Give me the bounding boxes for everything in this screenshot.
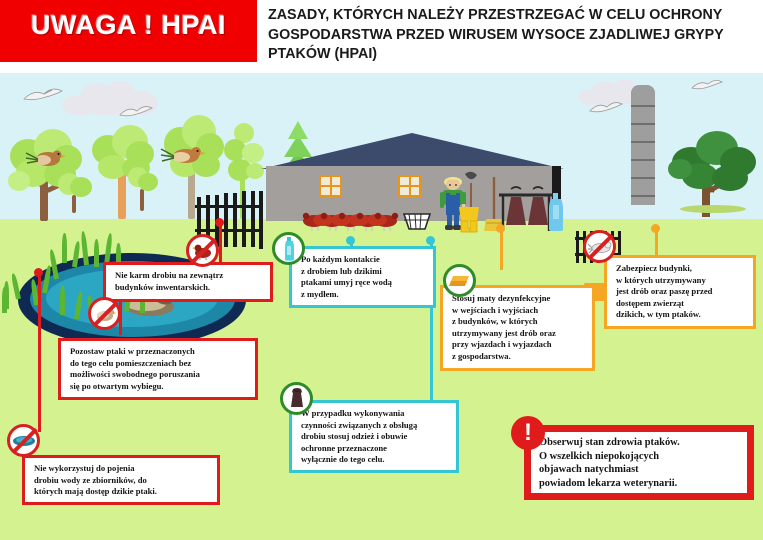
no-free-range-icon bbox=[88, 297, 121, 330]
bush bbox=[128, 167, 158, 211]
tip-line: przy wjazdach i wyjazdach bbox=[452, 339, 585, 351]
tip-box-keep-birds-indoors: Pozostaw ptaki w przeznaczonych do tego … bbox=[58, 338, 258, 400]
rubber-boots-icon bbox=[457, 207, 481, 233]
no-wild-animals-icon bbox=[583, 230, 616, 263]
connector-line bbox=[38, 272, 41, 432]
connector-dot bbox=[215, 218, 224, 227]
chicken-flock-icon bbox=[302, 211, 402, 233]
connector-dot bbox=[651, 224, 660, 233]
tip-line: w wejściach i wyjściach bbox=[452, 305, 585, 317]
wild-bird-icon bbox=[24, 147, 66, 169]
tip-line: dzikich, w tym ptaków. bbox=[616, 309, 746, 321]
disinfection-mat-icon bbox=[443, 264, 476, 297]
tip-line: Pozostaw ptaki w przeznaczonych bbox=[70, 346, 248, 358]
tip-box-no-outdoor-feeding: Nie karm drobiu na zewnątrz budynków inw… bbox=[103, 262, 273, 302]
barn-window bbox=[398, 175, 421, 197]
connector-dot bbox=[346, 236, 355, 245]
header: UWAGA ! HPAI ZASADY, KTÓRYCH NALEŻY PRZE… bbox=[0, 0, 763, 73]
connector-line bbox=[500, 228, 503, 270]
tip-line: Obserwuj stan zdrowia ptaków. bbox=[539, 436, 741, 450]
tip-line: Nie karm drobiu na zewnątrz bbox=[115, 270, 263, 282]
connector-line bbox=[430, 298, 433, 404]
infographic-page: UWAGA ! HPAI ZASADY, KTÓRYCH NALEŻY PRZE… bbox=[0, 0, 763, 540]
tree bbox=[668, 125, 760, 219]
bush bbox=[58, 173, 92, 213]
tip-line: wyłącznie do tego celu. bbox=[301, 454, 449, 466]
wild-bird-icon bbox=[160, 143, 206, 167]
tip-line: budynków inwentarskich. bbox=[115, 282, 263, 294]
tip-line: Zabezpiecz budynki, bbox=[616, 263, 746, 275]
flying-bird-icon bbox=[588, 99, 624, 115]
protective-clothing-icon bbox=[280, 382, 313, 415]
tip-line: w których utrzymywany bbox=[616, 275, 746, 287]
tip-line: Po każdym kontakcie bbox=[301, 254, 426, 266]
tip-line: Stosuj maty dezynfekcyjne bbox=[452, 293, 585, 305]
tip-line: do tego celu pomieszczeniach bez bbox=[70, 358, 248, 370]
spray-bottle-icon bbox=[549, 193, 563, 231]
tip-box-wash-hands: Po każdym kontakcie z drobiem lub dzikim… bbox=[289, 246, 436, 308]
tip-line: z gospodarstwa. bbox=[452, 351, 585, 363]
flying-bird-icon bbox=[690, 77, 724, 92]
tip-line: ochronne przeznaczone bbox=[301, 443, 449, 455]
tip-box-no-surface-water: Nie wykorzystuj do pojenia drobiu wody z… bbox=[22, 455, 220, 505]
tip-line: ptakami umyj ręce wodą bbox=[301, 277, 426, 289]
connector-dot bbox=[426, 236, 435, 245]
tip-line: objawach natychmiast bbox=[539, 463, 741, 477]
tip-line: W przypadku wykonywania bbox=[301, 408, 449, 420]
grass-tuft bbox=[2, 287, 7, 318]
no-water-trough-icon bbox=[7, 424, 40, 457]
tip-line: czynności związanych z obsługą bbox=[301, 420, 449, 432]
tip-line: jest drób oraz paszę przed bbox=[616, 286, 746, 298]
barn-roof bbox=[261, 133, 564, 169]
tip-line: z budynków, w których bbox=[452, 316, 585, 328]
warning-banner-label: UWAGA ! HPAI bbox=[0, 10, 257, 41]
tip-line: z mydłem. bbox=[301, 289, 426, 301]
tip-line: których mają dostęp dzikie ptaki. bbox=[34, 486, 210, 498]
connector-line bbox=[219, 222, 222, 262]
tip-line: O wszelkich niepokojących bbox=[539, 450, 741, 464]
flying-bird-icon bbox=[22, 85, 64, 103]
exclamation-icon: ! bbox=[511, 416, 545, 450]
tip-line: powiadom lekarza weterynarii. bbox=[539, 477, 741, 491]
barn-window bbox=[319, 175, 342, 197]
connector-dot bbox=[34, 268, 43, 277]
tip-line: Nie wykorzystuj do pojenia bbox=[34, 463, 210, 475]
tip-line: dostępem zwierząt bbox=[616, 298, 746, 310]
protective-coveralls-icon bbox=[497, 185, 555, 231]
barn bbox=[261, 133, 564, 221]
tip-line: utrzymywany jest drób oraz bbox=[452, 328, 585, 340]
flying-bird-icon bbox=[118, 103, 154, 119]
connector-dot bbox=[496, 224, 505, 233]
tip-box-monitor-bird-health: Obserwuj stan zdrowia ptaków. O wszelkic… bbox=[524, 425, 754, 500]
tip-box-protective-clothing: W przypadku wykonywania czynności związa… bbox=[289, 400, 459, 473]
page-title: ZASADY, KTÓRYCH NALEŻY PRZESTRZEGAĆ W CE… bbox=[268, 6, 754, 65]
silo bbox=[631, 85, 655, 205]
tip-box-secure-buildings: Zabezpiecz budynki, w których utrzymywan… bbox=[604, 255, 756, 329]
tip-line: się po otwartym wybiegu. bbox=[70, 381, 248, 393]
tip-line: drobiu wody ze zbiorników, do bbox=[34, 475, 210, 487]
soap-bottle-icon bbox=[272, 232, 305, 265]
tip-line: z drobiem lub dzikimi bbox=[301, 266, 426, 278]
tip-line: możliwości swobodnego poruszania bbox=[70, 369, 248, 381]
tip-line: drobiu stosuj odzież i obuwie bbox=[301, 431, 449, 443]
no-chicken-outdoors-icon bbox=[186, 234, 219, 267]
tip-box-disinfection-mats: Stosuj maty dezynfekcyjne w wejściach i … bbox=[440, 285, 595, 371]
feeder-icon bbox=[403, 212, 431, 232]
